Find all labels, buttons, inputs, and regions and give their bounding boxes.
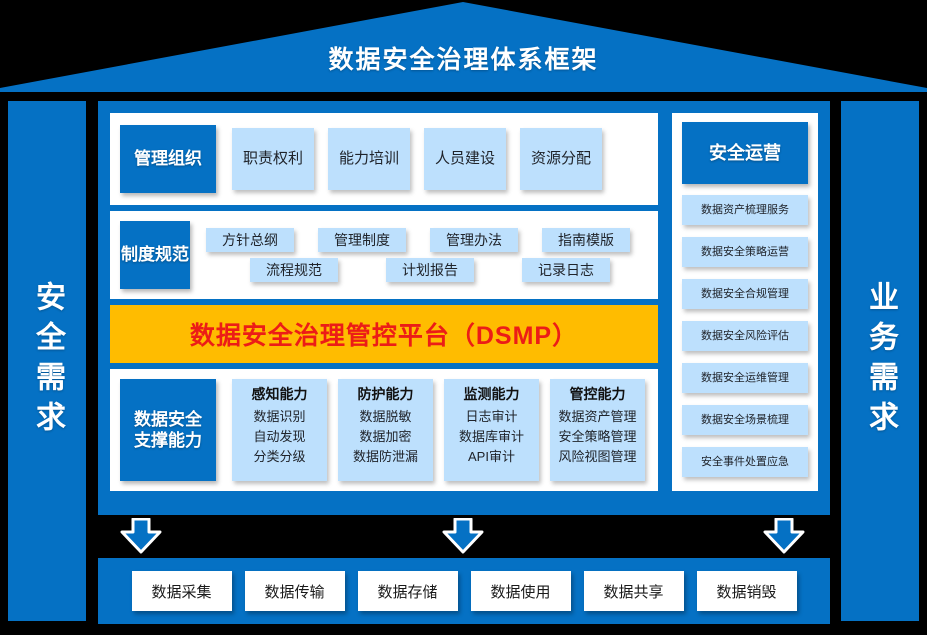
lifecycle-stage[interactable]: 数据销毁: [697, 571, 797, 611]
capability-item: 风险视图管理: [558, 447, 636, 467]
dsmp-platform-bar[interactable]: 数据安全治理管控平台（DSMP）: [110, 305, 658, 363]
lifecycle-stage[interactable]: 数据采集: [132, 571, 232, 611]
org-item[interactable]: 资源分配: [520, 128, 602, 190]
capability-item: 自动发现: [253, 427, 305, 447]
capability-column-control[interactable]: 管控能力 数据资产管理 安全策略管理 风险视图管理: [550, 379, 645, 481]
capability-item: 数据脱敏: [359, 407, 411, 427]
capability-item: API审计: [468, 447, 515, 467]
capability-item: 数据加密: [359, 427, 411, 447]
page-title: 数据安全治理体系框架: [0, 40, 927, 76]
policy-items: 方针总纲 管理制度 管理办法 指南模版 流程规范 计划报告 记录日志: [206, 228, 658, 282]
panel-organization: 管理组织 职责权利 能力培训 人员建设 资源分配: [110, 113, 658, 205]
operations-item[interactable]: 数据安全场景梳理: [682, 405, 808, 435]
capability-header-line1: 数据安全: [134, 409, 202, 430]
roof-banner: 数据安全治理体系框架: [0, 0, 927, 92]
capability-column-title: 防护能力: [358, 384, 414, 404]
operations-item[interactable]: 安全事件处置应急: [682, 447, 808, 477]
operations-item[interactable]: 数据安全运维管理: [682, 363, 808, 393]
operations-item[interactable]: 数据安全合规管理: [682, 279, 808, 309]
capability-item: 数据库审计: [459, 427, 524, 447]
down-arrow-icon: [442, 518, 484, 554]
org-item[interactable]: 职责权利: [232, 128, 314, 190]
capability-column-perception[interactable]: 感知能力 数据识别 自动发现 分类分级: [232, 379, 327, 481]
capability-item: 日志审计: [465, 407, 517, 427]
capability-column-title: 管控能力: [570, 384, 626, 404]
lifecycle-stage[interactable]: 数据使用: [471, 571, 571, 611]
operations-item[interactable]: 数据安全策略运营: [682, 237, 808, 267]
capability-column-title: 感知能力: [252, 384, 308, 404]
lifecycle-stage[interactable]: 数据共享: [584, 571, 684, 611]
pillar-left-label: 安全需求: [25, 281, 69, 441]
framework-body: 管理组织 职责权利 能力培训 人员建设 资源分配 制度规范 方针总纲 管理制度 …: [98, 101, 830, 515]
dsmp-platform-label: 数据安全治理管控平台（DSMP）: [190, 316, 578, 352]
policy-item[interactable]: 管理制度: [318, 228, 406, 252]
policy-item[interactable]: 方针总纲: [206, 228, 294, 252]
capability-item: 数据防泄漏: [353, 447, 418, 467]
operations-item[interactable]: 数据资产梳理服务: [682, 195, 808, 225]
capability-columns: 感知能力 数据识别 自动发现 分类分级 防护能力 数据脱敏 数据加密 数据防泄漏…: [232, 379, 645, 481]
policy-item[interactable]: 记录日志: [522, 258, 610, 282]
pillar-security-requirements: 安全需求: [8, 101, 86, 621]
capability-header: 数据安全 支撑能力: [120, 379, 216, 481]
capability-column-title: 监测能力: [464, 384, 520, 404]
operations-items: 数据资产梳理服务 数据安全策略运营 数据安全合规管理 数据安全风险评估 数据安全…: [682, 195, 808, 489]
panel-policy-standards: 制度规范 方针总纲 管理制度 管理办法 指南模版 流程规范 计划报告 记录日志: [110, 211, 658, 299]
capability-item: 数据识别: [253, 407, 305, 427]
panel-security-operations: 安全运营 数据资产梳理服务 数据安全策略运营 数据安全合规管理 数据安全风险评估…: [672, 113, 818, 491]
capability-column-protection[interactable]: 防护能力 数据脱敏 数据加密 数据防泄漏: [338, 379, 433, 481]
policy-header: 制度规范: [120, 221, 190, 289]
policy-item[interactable]: 计划报告: [386, 258, 474, 282]
pillar-right-label: 业务需求: [858, 281, 902, 441]
capability-item: 数据资产管理: [558, 407, 636, 427]
policy-row-top: 方针总纲 管理制度 管理办法 指南模版: [206, 228, 658, 252]
pillar-business-requirements: 业务需求: [841, 101, 919, 621]
policy-item[interactable]: 流程规范: [250, 258, 338, 282]
org-item[interactable]: 能力培训: [328, 128, 410, 190]
panel-capabilities: 数据安全 支撑能力 感知能力 数据识别 自动发现 分类分级 防护能力 数据脱敏 …: [110, 369, 658, 491]
data-lifecycle-bar: 数据采集 数据传输 数据存储 数据使用 数据共享 数据销毁: [98, 558, 830, 624]
capability-item: 安全策略管理: [558, 427, 636, 447]
org-item[interactable]: 人员建设: [424, 128, 506, 190]
down-arrow-icon: [763, 518, 805, 554]
policy-row-bottom: 流程规范 计划报告 记录日志: [206, 258, 658, 282]
down-arrow-icon: [120, 518, 162, 554]
capability-header-line2: 支撑能力: [134, 430, 202, 451]
capability-item: 分类分级: [253, 447, 305, 467]
lifecycle-stage[interactable]: 数据存储: [358, 571, 458, 611]
capability-column-monitoring[interactable]: 监测能力 日志审计 数据库审计 API审计: [444, 379, 539, 481]
policy-item[interactable]: 指南模版: [542, 228, 630, 252]
operations-header: 安全运营: [682, 122, 808, 184]
organization-items: 职责权利 能力培训 人员建设 资源分配: [232, 128, 602, 190]
organization-header: 管理组织: [120, 125, 216, 193]
policy-item[interactable]: 管理办法: [430, 228, 518, 252]
operations-item[interactable]: 数据安全风险评估: [682, 321, 808, 351]
lifecycle-stage[interactable]: 数据传输: [245, 571, 345, 611]
